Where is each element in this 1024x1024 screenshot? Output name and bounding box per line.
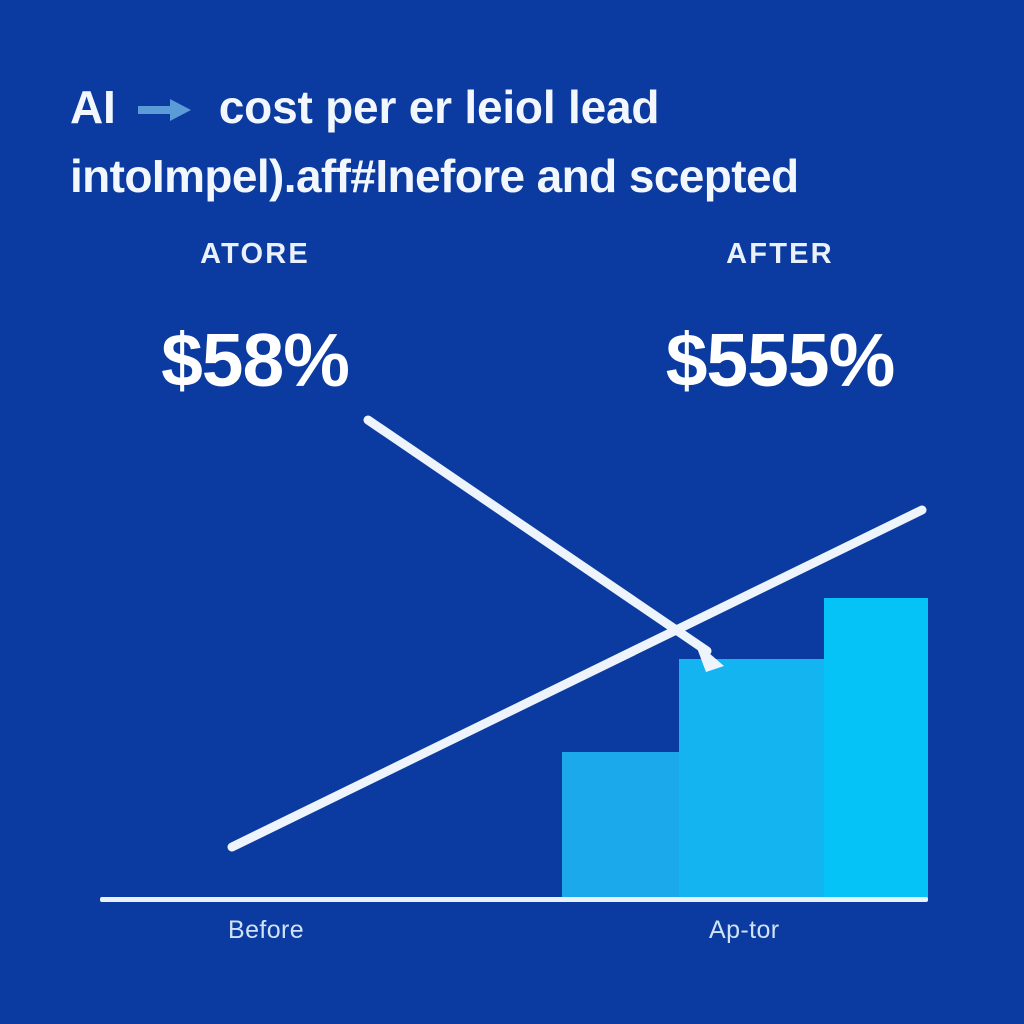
headline-prefix: AI (70, 81, 116, 133)
headline-block: AI cost per er leiol lead intoImpel).aff… (70, 76, 950, 207)
infographic-canvas: AI cost per er leiol lead intoImpel).aff… (0, 0, 1024, 1024)
headline-suffix: cost per er leiol lead (219, 81, 659, 133)
right-arrow-icon (138, 77, 192, 139)
stat-block-before: ATORE $58% (120, 238, 390, 401)
chart-axis-baseline (100, 897, 928, 902)
declining-trend-line (368, 420, 707, 651)
headline-line-1: AI cost per er leiol lead (70, 76, 950, 145)
chart-bar-1 (562, 752, 690, 898)
stat-block-after: AFTER $555% (640, 238, 920, 401)
axis-tick-label-before: Before (228, 916, 304, 945)
headline-line-2: intoImpel).aff#Inefore and scepted (70, 145, 950, 207)
stat-label-before: ATORE (120, 238, 390, 271)
stat-label-after: AFTER (640, 238, 920, 271)
chart-bar-2 (679, 659, 827, 898)
stat-value-after: $555% (640, 319, 920, 401)
stat-value-before: $58% (120, 319, 390, 401)
chart-bar-3 (824, 598, 928, 898)
axis-tick-label-after: Ap-tor (709, 916, 779, 945)
